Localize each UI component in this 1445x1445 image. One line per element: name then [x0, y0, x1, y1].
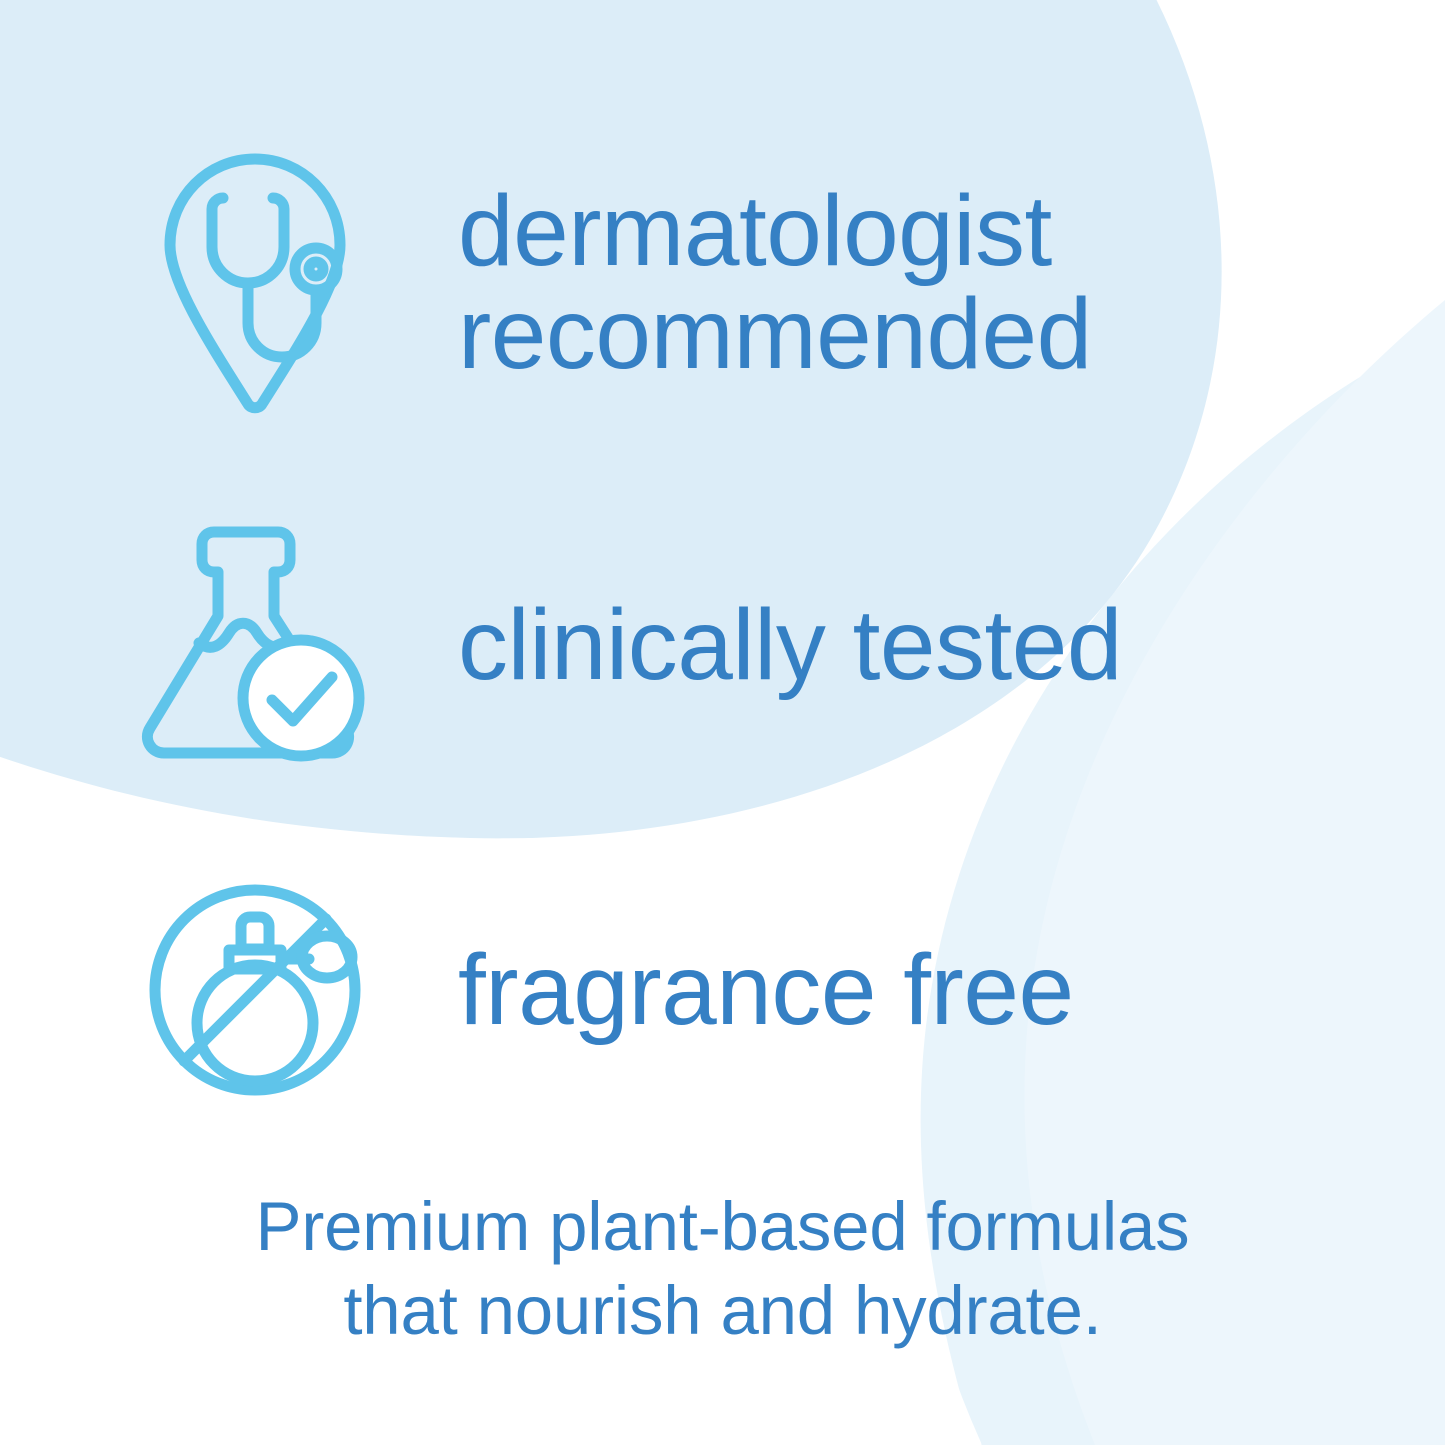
flask-checkmark-icon	[141, 520, 369, 770]
map-pin-stethoscope-icon	[160, 151, 350, 419]
feature-icon-wrapper	[140, 881, 370, 1099]
feature-label-clinically-tested: clinically tested	[458, 594, 1122, 697]
feature-icon-wrapper	[140, 520, 370, 770]
feature-row-clinically-tested: clinically tested	[140, 520, 1122, 770]
feature-label-fragrance-free: fragrance free	[458, 939, 1074, 1042]
feature-row-fragrance-free: fragrance free	[140, 880, 1074, 1100]
caption-text: Premium plant-based formulas that nouris…	[0, 1185, 1445, 1353]
feature-row-dermatologist-recommended: dermatologist recommended	[140, 150, 1092, 420]
promo-graphic: dermatologist recommended clinically tes…	[0, 0, 1445, 1445]
no-perfume-bottle-icon	[146, 881, 364, 1099]
feature-label-dermatologist-recommended: dermatologist recommended	[458, 180, 1092, 386]
feature-icon-wrapper	[140, 151, 370, 419]
